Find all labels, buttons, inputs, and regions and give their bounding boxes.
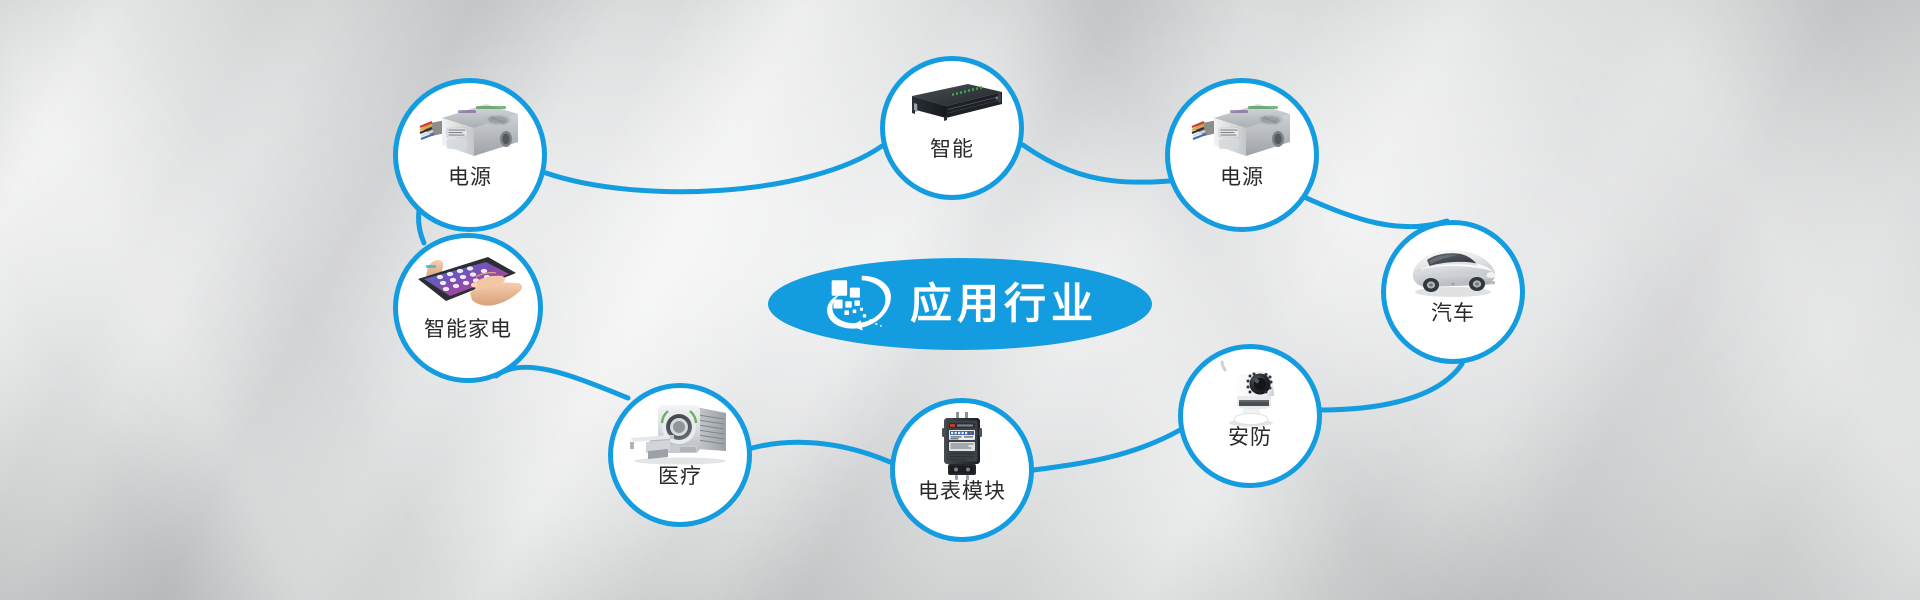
- node-power-left[interactable]: 电源: [393, 78, 547, 232]
- node-label: 电源: [448, 167, 492, 188]
- application-industries-banner: 电源: [0, 0, 1920, 600]
- electricity-meter-icon: [895, 403, 1029, 481]
- node-smart[interactable]: 智能: [880, 56, 1024, 200]
- connector-powerleft-smart: [546, 146, 882, 192]
- node-power-right[interactable]: 电源: [1165, 78, 1319, 232]
- node-security[interactable]: 安防: [1178, 344, 1322, 488]
- ct-scanner-icon: [613, 388, 747, 466]
- node-medical[interactable]: 医疗: [608, 383, 752, 527]
- node-label: 电表模块: [918, 481, 1006, 502]
- connector-meter-medical: [752, 442, 890, 462]
- connector-security-meter: [1034, 430, 1180, 470]
- sports-car-icon: [1386, 225, 1520, 303]
- badge-title: 应用行业: [910, 283, 1098, 325]
- rack-server-icon: [885, 61, 1019, 139]
- node-label: 智能: [930, 139, 974, 160]
- node-label: 安防: [1228, 427, 1272, 448]
- connector-auto-security: [1320, 364, 1462, 410]
- node-automotive[interactable]: 汽车: [1381, 220, 1525, 364]
- node-label: 医疗: [658, 466, 702, 487]
- connector-powerright-auto: [1302, 196, 1447, 227]
- node-smart-home[interactable]: 智能家电: [393, 233, 543, 383]
- orbit-pixel-logo: [822, 273, 896, 335]
- node-meter-module[interactable]: 电表模块: [890, 398, 1034, 542]
- center-badge: 应用行业: [768, 258, 1152, 350]
- node-label: 智能家电: [424, 319, 512, 340]
- node-label: 汽车: [1431, 303, 1475, 324]
- ip-camera-icon: [1183, 349, 1317, 427]
- connector-medical-smarthome: [496, 367, 628, 398]
- node-label: 电源: [1220, 167, 1264, 188]
